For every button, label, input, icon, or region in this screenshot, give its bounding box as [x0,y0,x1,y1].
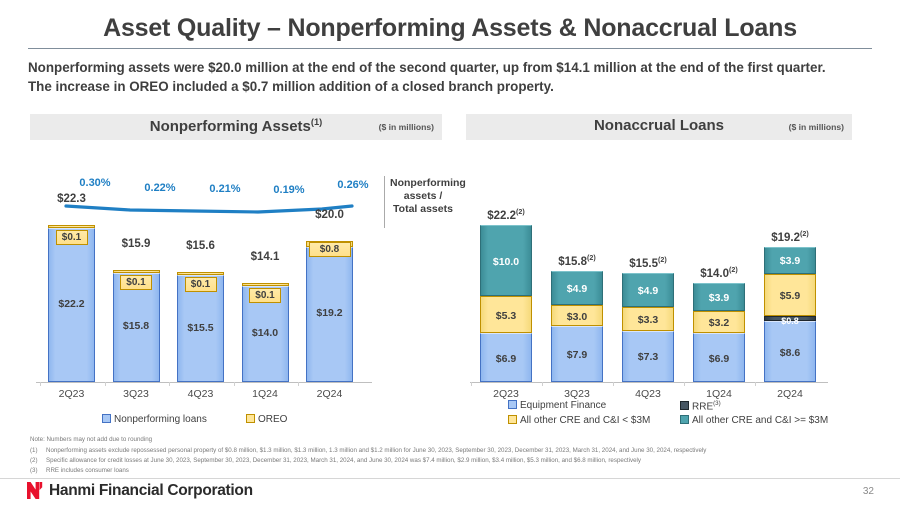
nal-x-label-1q24: 1Q24 [693,388,745,400]
npa-value-oreo: $0.1 [120,275,152,290]
left-panel-header: Nonperforming Assets(1) ($ in millions) [30,114,442,140]
note-rounding: Note: Numbers may not add due to roundin… [30,436,152,443]
nal-total-2q24: $19.2(2) [758,230,822,244]
nal-total-superscript: (2) [516,208,525,216]
nal-x-label-2q23: 2Q23 [480,388,532,400]
npa-x-label-3q23: 3Q23 [113,388,160,400]
company-logo: Hanmi Financial Corporation [26,481,253,500]
nal-bar-3q23[interactable]: $7.9$3.0$4.9 [551,271,603,382]
nal-total-value: $15.5 [629,258,658,270]
legend-label-nonperforming-loans: Nonperforming loans [114,414,207,425]
footnote-1-number: (1) [30,447,46,454]
nal-total-4q23: $15.5(2) [616,256,680,270]
npa-ratio-label-2q23: 0.30% [60,177,130,189]
footnote-3-text: RRE includes consumer loans [46,467,129,474]
npa-ratio-label-1q24: 0.19% [254,184,324,196]
legend-label-cre-ci-over-3m: All other CRE and C&I >= $3M [692,415,828,426]
nal-value-equipment-finance: $6.9 [693,353,745,365]
nal-total-superscript: (2) [729,266,738,274]
nonperforming-assets-chart: 0.30% 0.22% 0.21% 0.19% 0.26% Nonperform… [30,160,442,410]
nal-x-label-3q23: 3Q23 [551,388,603,400]
npa-bar-2q23[interactable]: $22.2 [48,225,95,382]
npa-value-nonperforming-loans: $19.2 [306,307,353,319]
npa-ratio-label-2q24: 0.26% [318,179,388,191]
npa-value-oreo: $0.1 [56,230,88,245]
ratio-caption: Nonperforming assets / Total assets [390,177,456,216]
left-panel-title-superscript: (1) [311,117,322,127]
legend-swatch-oreo [246,414,255,423]
nal-x-tick [684,382,685,386]
nal-value-equipment-finance: $6.9 [480,353,532,365]
nal-total-value: $15.8 [558,255,587,267]
footnote-2: (2)Specific allowance for credit losses … [30,457,641,464]
npa-total-4q23: $15.6 [177,240,224,252]
ratio-caption-line3: Total assets [393,203,453,215]
legend-label-equipment-finance: Equipment Finance [520,400,606,411]
nal-value-equipment-finance: $8.6 [764,347,816,359]
nal-value-all-other-cre-and-c-i-3m: $4.9 [551,283,603,295]
npa-ratio-label-4q23: 0.21% [190,183,260,195]
nal-total-2q23: $22.2(2) [474,208,538,222]
nal-value-all-other-cre-and-c-i-3m: $3.3 [622,314,674,326]
right-panel-header: Nonaccrual Loans ($ in millions) [466,114,852,140]
npa-bar-2q24[interactable]: $19.2 [306,241,353,382]
footnote-3-number: (3) [30,467,46,474]
footer-divider [0,478,900,479]
slide: Asset Quality – Nonperforming Assets & N… [0,0,900,506]
npa-value-nonperforming-loans: $15.8 [113,320,160,332]
nal-x-label-4q23: 4Q23 [622,388,674,400]
npa-value-oreo: $0.1 [249,288,281,303]
npa-x-tick [169,382,170,386]
page-number: 32 [863,486,874,497]
nal-bar-4q23[interactable]: $7.3$3.3$4.9 [622,273,674,382]
footnote-1: (1)Nonperforming assets exclude reposses… [30,447,706,454]
left-chart-x-axis [36,382,372,383]
npa-x-label-1q24: 1Q24 [242,388,289,400]
legend-swatch-equipment-finance [508,400,517,409]
footnote-1-text: Nonperforming assets exclude repossessed… [46,447,706,454]
nal-x-tick [613,382,614,386]
npa-x-label-2q23: 2Q23 [48,388,95,400]
footnote-3: (3)RRE includes consumer loans [30,467,129,474]
nal-x-tick [542,382,543,386]
nal-value-all-other-cre-and-c-i-3m: $3.2 [693,317,745,329]
legend-swatch-cre-ci-under-3m [508,415,517,424]
nal-total-superscript: (2) [658,256,667,264]
right-chart-x-axis [470,382,828,383]
npa-ratio-label-3q23: 0.22% [125,182,195,194]
nal-value-all-other-cre-and-c-i-3m: $10.0 [480,256,532,268]
left-chart-legend: Nonperforming loans OREO [30,414,390,430]
company-name: Hanmi Financial Corporation [49,482,253,500]
npa-value-nonperforming-loans: $14.0 [242,327,289,339]
npa-total-2q23: $22.3 [48,193,95,205]
nal-x-label-2q24: 2Q24 [764,388,816,400]
nal-value-equipment-finance: $7.9 [551,349,603,361]
legend-swatch-nonperforming-loans [102,414,111,423]
hanmi-logo-icon [26,481,43,500]
npa-total-1q24: $14.1 [242,251,289,263]
left-panel-title-text: Nonperforming Assets [150,118,311,135]
nal-value-rre: $0.8 [764,316,816,326]
ratio-caption-line2: assets / [404,190,443,202]
npa-x-tick [298,382,299,386]
npa-x-tick [40,382,41,386]
nal-bar-2q24[interactable]: $8.6$0.8$5.9$3.9 [764,247,816,382]
footnote-2-number: (2) [30,457,46,464]
nal-total-superscript: (2) [800,230,809,238]
left-panel-units: ($ in millions) [379,122,434,132]
npa-x-label-2q24: 2Q24 [306,388,353,400]
nal-value-all-other-cre-and-c-i-3m: $3.9 [764,255,816,267]
legend-label-rre: RRE [692,401,713,412]
nal-total-value: $19.2 [771,231,800,243]
legend-item-cre-ci-under-3m[interactable]: All other CRE and C&I < $3M [508,415,650,426]
legend-item-oreo[interactable]: OREO [246,414,287,425]
npa-value-nonperforming-loans: $15.5 [177,322,224,334]
npa-x-tick [234,382,235,386]
right-chart-legend: Equipment Finance RRE(3) All other CRE a… [466,400,852,430]
legend-swatch-cre-ci-over-3m [680,415,689,424]
title-divider [28,48,872,49]
legend-item-cre-ci-over-3m[interactable]: All other CRE and C&I >= $3M [680,415,828,426]
legend-item-nonperforming-loans[interactable]: Nonperforming loans [102,414,207,425]
nonaccrual-loans-chart: $6.9$5.3$10.0$22.2(2)$7.9$3.0$4.9$15.8(2… [466,160,852,410]
ratio-brace [384,176,385,228]
nal-total-3q23: $15.8(2) [545,254,609,268]
npa-total-3q23: $15.9 [113,238,160,250]
legend-item-equipment-finance[interactable]: Equipment Finance [508,400,606,411]
summary-text: Nonperforming assets were $20.0 million … [28,58,848,96]
page-title: Asset Quality – Nonperforming Assets & N… [0,14,900,43]
nal-x-tick [755,382,756,386]
nal-value-all-other-cre-and-c-i-3m: $3.0 [551,311,603,323]
right-panel-units: ($ in millions) [789,122,844,132]
legend-label-oreo: OREO [258,414,287,425]
npa-x-tick [105,382,106,386]
footnote-2-text: Specific allowance for credit losses at … [46,457,641,464]
nal-value-all-other-cre-and-c-i-3m: $3.9 [693,292,745,304]
npa-value-oreo: $0.1 [185,277,217,292]
npa-x-label-4q23: 4Q23 [177,388,224,400]
legend-label-rre-superscript: (3) [713,400,721,407]
nal-bar-1q24[interactable]: $6.9$3.2$3.9 [693,283,745,382]
ratio-caption-line1: Nonperforming [390,177,466,189]
npa-value-oreo: $0.8 [309,242,351,257]
nal-value-equipment-finance: $7.3 [622,351,674,363]
legend-item-rre[interactable]: RRE(3) [680,400,721,412]
legend-swatch-rre [680,401,689,410]
npa-value-nonperforming-loans: $22.2 [48,298,95,310]
nal-x-tick [471,382,472,386]
nal-value-all-other-cre-and-c-i-3m: $5.9 [764,290,816,302]
legend-label-cre-ci-under-3m: All other CRE and C&I < $3M [520,415,650,426]
nal-value-all-other-cre-and-c-i-3m: $5.3 [480,310,532,322]
nal-total-value: $14.0 [700,268,729,280]
nal-value-all-other-cre-and-c-i-3m: $4.9 [622,285,674,297]
nal-bar-2q23[interactable]: $6.9$5.3$10.0 [480,225,532,382]
nal-total-value: $22.2 [487,210,516,222]
nal-total-1q24: $14.0(2) [687,266,751,280]
nal-total-superscript: (2) [587,254,596,262]
npa-total-2q24: $20.0 [306,209,353,221]
